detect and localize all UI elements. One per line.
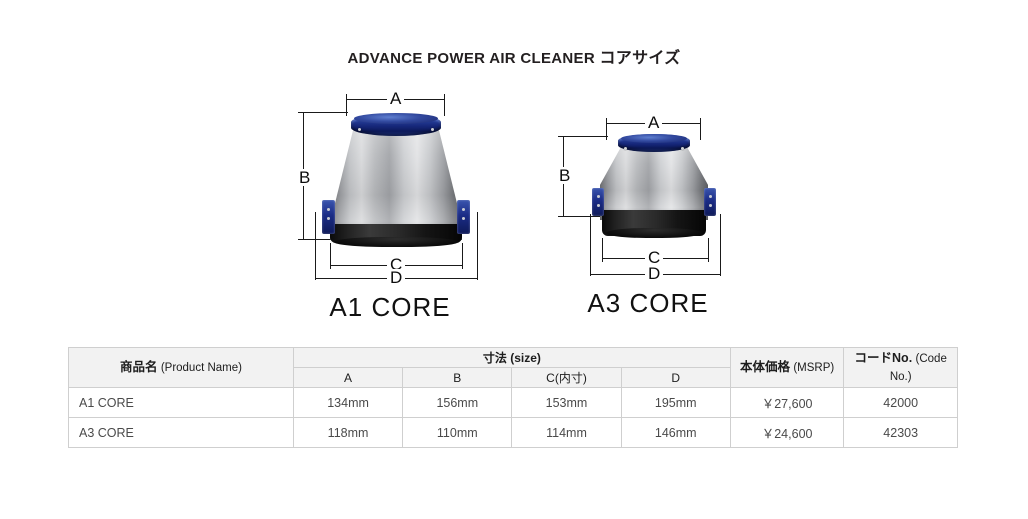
a1-rivet-right <box>431 128 434 131</box>
cell-dim-d: 146mm <box>621 418 730 448</box>
header-col-a: A <box>293 368 402 388</box>
a3-core-caption: A3 CORE <box>548 288 748 319</box>
diagram-a1-core: A B <box>280 80 500 335</box>
cell-dim-b: 110mm <box>403 418 512 448</box>
cell-dim-b: 156mm <box>403 388 512 418</box>
a3-dim-a-label: A <box>645 114 662 131</box>
cell-price: ￥24,600 <box>730 418 844 448</box>
header-col-b: B <box>403 368 512 388</box>
page-title-main: ADVANCE POWER AIR CLEANER <box>347 50 595 67</box>
header-product-name: 商品名 (Product Name) <box>69 348 294 388</box>
a1-dim-d-label: D <box>387 269 405 286</box>
header-size-group: 寸法 (size) <box>293 348 730 368</box>
a1-side-clip-left <box>322 200 335 234</box>
a1-ring-inner <box>354 113 438 124</box>
page-title: ADVANCE POWER AIR CLEANER コアサイズ <box>0 44 1028 68</box>
table-row: A3 CORE 118mm 110mm 114mm 146mm ￥24,600 … <box>69 418 958 448</box>
a3-rivet-right <box>681 147 684 150</box>
spec-table-head: 商品名 (Product Name) 寸法 (size) 本体価格 (MSRP)… <box>69 348 958 388</box>
a1-dim-b-label: B <box>296 169 313 186</box>
a3-dim-d-tick-right <box>720 214 721 276</box>
a1-base-lip <box>334 237 458 247</box>
header-price: 本体価格 (MSRP) <box>730 348 844 388</box>
a1-dim-a-label: A <box>387 90 404 107</box>
a3-rivet-left <box>624 147 627 150</box>
header-col-d: D <box>621 368 730 388</box>
a1-dim-d-tick-left <box>315 212 316 280</box>
header-product-name-en: (Product Name) <box>161 362 242 374</box>
header-col-c: C(内寸) <box>512 368 621 388</box>
header-code: コードNo. (Code No.) <box>844 348 958 388</box>
cell-dim-a: 118mm <box>293 418 402 448</box>
a3-ring-inner <box>621 134 687 143</box>
cell-dim-d: 195mm <box>621 388 730 418</box>
a3-dim-d-label: D <box>645 265 663 282</box>
a3-core-image <box>588 134 720 244</box>
page-title-jp: コアサイズ <box>599 50 680 67</box>
cell-dim-c: 153mm <box>512 388 621 418</box>
header-price-jp: 本体価格 <box>740 360 790 374</box>
cell-dim-a: 134mm <box>293 388 402 418</box>
diagram-a3-core: A B C <box>548 108 748 335</box>
cell-product-name: A3 CORE <box>69 418 294 448</box>
a3-side-clip-right <box>704 188 716 216</box>
cell-code: 42000 <box>844 388 958 418</box>
a1-metal-cone <box>330 122 462 240</box>
header-price-en: (MSRP) <box>793 362 834 374</box>
page-root: ADVANCE POWER AIR CLEANER コアサイズ A B <box>0 0 1028 519</box>
table-row: A1 CORE 134mm 156mm 153mm 195mm ￥27,600 … <box>69 388 958 418</box>
a3-base-lip <box>606 228 702 238</box>
cell-product-name: A1 CORE <box>69 388 294 418</box>
a3-dim-b-label: B <box>556 167 573 184</box>
diagram-stage: A B <box>0 80 1028 335</box>
a1-dim-d-tick-right <box>477 212 478 280</box>
cell-code: 42303 <box>844 418 958 448</box>
header-product-name-jp: 商品名 <box>120 360 158 374</box>
cell-dim-c: 114mm <box>512 418 621 448</box>
a1-core-caption: A1 CORE <box>280 292 500 323</box>
table-header-row-1: 商品名 (Product Name) 寸法 (size) 本体価格 (MSRP)… <box>69 348 958 368</box>
a1-core-image <box>316 112 476 247</box>
cell-price: ￥27,600 <box>730 388 844 418</box>
a1-rivet-left <box>358 128 361 131</box>
header-code-jp: コードNo. <box>855 351 913 365</box>
spec-table: 商品名 (Product Name) 寸法 (size) 本体価格 (MSRP)… <box>68 347 958 448</box>
a1-cone-sheen <box>330 122 462 240</box>
a3-dim-d-tick-left <box>590 214 591 276</box>
spec-table-body: A1 CORE 134mm 156mm 153mm 195mm ￥27,600 … <box>69 388 958 448</box>
a1-side-clip-right <box>457 200 470 234</box>
a3-cone-sheen <box>600 142 708 220</box>
a3-side-clip-left <box>592 188 604 216</box>
a3-metal-cone <box>600 142 708 220</box>
